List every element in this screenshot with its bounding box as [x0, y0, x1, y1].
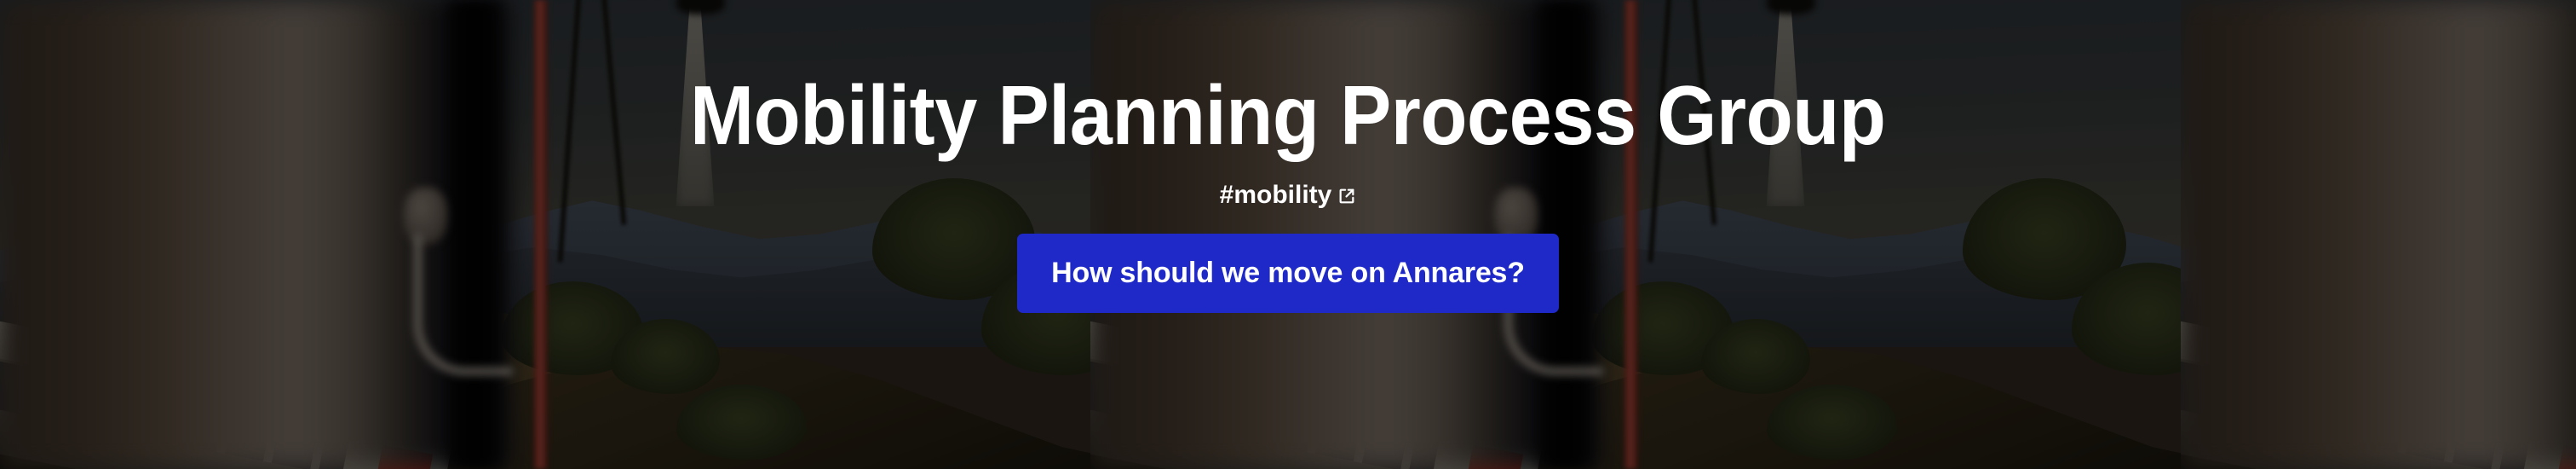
- cta-button[interactable]: How should we move on Annares?: [1017, 234, 1559, 313]
- hashtag-label: #mobility: [1220, 182, 1332, 208]
- page-title: Mobility Planning Process Group: [690, 73, 1885, 157]
- hero-banner: Mobility Planning Process Group #mobilit…: [0, 0, 2576, 469]
- hashtag-link[interactable]: #mobility: [1220, 182, 1357, 208]
- external-link-icon: [1337, 187, 1356, 206]
- hero-content: Mobility Planning Process Group #mobilit…: [0, 0, 2576, 469]
